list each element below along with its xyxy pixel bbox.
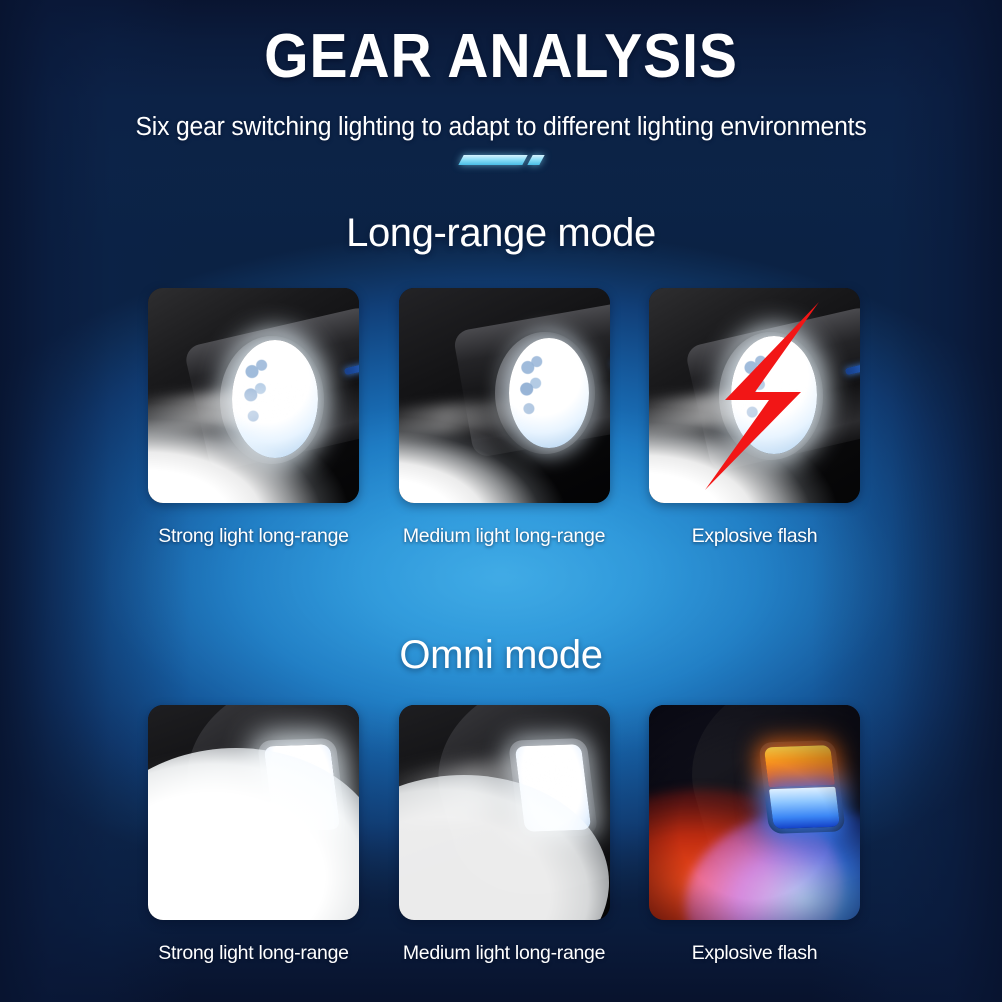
explosive-flash-photo [649,288,860,503]
divider-bar-short [527,155,544,165]
strong-light-long-range-photo [148,288,359,503]
gear-cell-strong-light-long-range[interactable]: Strong light long-range [148,288,359,548]
flashlight-illustration [399,288,610,503]
skew-bar-divider-icon [0,152,1002,168]
section-heading-omni-mode: Omni mode [0,633,1002,678]
gear-cell-omni-medium-light[interactable]: Medium light long-range [399,705,610,965]
cob-panel-illustration [148,705,359,920]
gear-caption: Explosive flash [649,942,860,965]
lightning-bolt-icon [683,296,843,496]
gear-caption: Medium light long-range [399,525,610,548]
page-title: GEAR ANALYSIS [40,26,962,88]
medium-light-long-range-photo [399,288,610,503]
page-subtitle: Six gear switching lighting to adapt to … [15,113,987,142]
light-pool [148,748,359,920]
gear-caption: Medium light long-range [399,942,610,965]
gear-cell-medium-light-long-range[interactable]: Medium light long-range [399,288,610,548]
cob-panel-illustration [399,705,610,920]
omni-strong-light-photo [148,705,359,920]
divider-bar-long [458,155,527,165]
red-blue-flash-illustration [649,705,860,920]
gear-cell-explosive-flash[interactable]: Explosive flash [649,288,860,548]
omni-mode-row: Strong light long-range Medium light lon… [148,705,860,965]
infographic-canvas: GEAR ANALYSIS Six gear switching lightin… [0,0,1002,1002]
gear-cell-omni-strong-light[interactable]: Strong light long-range [148,705,359,965]
gear-caption: Explosive flash [649,525,860,548]
omni-medium-light-photo [399,705,610,920]
infographic-content: GEAR ANALYSIS Six gear switching lightin… [0,0,1002,1002]
gear-caption: Strong light long-range [148,525,359,548]
photo-vignette [649,705,860,920]
long-range-mode-row: Strong light long-range Medium light lon… [148,288,860,548]
omni-red-blue-flash-photo [649,705,860,920]
flashlight-illustration [148,288,359,503]
gear-caption: Strong light long-range [148,942,359,965]
section-heading-long-range: Long-range mode [0,211,1002,256]
gear-cell-omni-explosive-flash[interactable]: Explosive flash [649,705,860,965]
